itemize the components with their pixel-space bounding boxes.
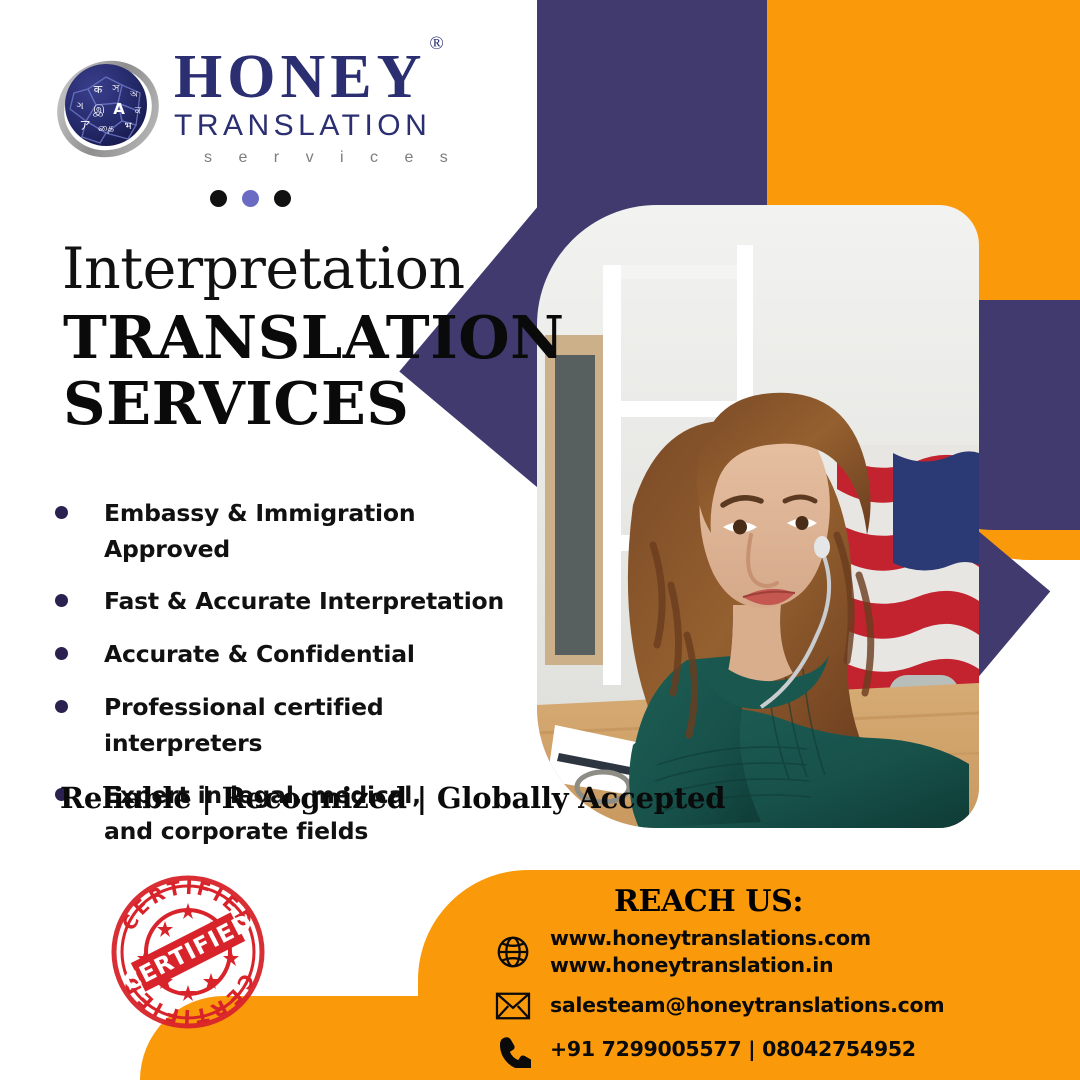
email-text: salesteam@honeytranslations.com [550, 992, 944, 1019]
list-item: Embassy & Immigration Approved [55, 496, 525, 567]
logo-dots [210, 190, 291, 207]
logo-wordmark: HONEY® TRANSLATION s e r v i c e s [174, 48, 459, 167]
list-item: Fast & Accurate Interpretation [55, 584, 525, 620]
logo-line2: TRANSLATION [174, 109, 459, 143]
interpreter-photo [537, 205, 979, 828]
bullet-icon [55, 700, 68, 713]
website-text: www.honeytranslations.com www.honeytrans… [550, 925, 871, 980]
bullet-icon [55, 647, 68, 660]
svg-text:भ: भ [124, 121, 132, 132]
bullet-icon [55, 594, 68, 607]
bullet-icon [55, 506, 68, 519]
globe-icon [492, 933, 534, 971]
contact-row-phone[interactable]: +91 7299005577 | 08042754952 [492, 1032, 1052, 1068]
photo-illustration [537, 205, 979, 828]
logo-line3: s e r v i c e s [174, 149, 459, 167]
certified-stamp-icon: CERTIFIED CERTIFIED CERTIFIED [108, 872, 268, 1032]
headline-bold: TRANSLATION SERVICES [63, 305, 565, 437]
dot-3 [274, 190, 291, 207]
svg-text:क: क [94, 83, 103, 96]
headline-line1: TRANSLATION [63, 305, 565, 371]
svg-text:ગ: ગ [76, 101, 83, 112]
registered-mark-icon: ® [429, 33, 448, 54]
phone-icon [492, 1032, 534, 1068]
contact-row-email[interactable]: salesteam@honeytranslations.com [492, 990, 1052, 1022]
svg-text:অ: অ [129, 90, 138, 100]
svg-text:A: A [113, 100, 125, 118]
list-item: Professional certified interpreters [55, 690, 525, 761]
svg-text:இ: இ [93, 102, 105, 117]
envelope-icon [492, 990, 534, 1022]
website-line2: www.honeytranslation.in [550, 952, 871, 979]
poster-canvas: क স অ ગ இ A ਕ ア தை भ HONEY® TRANSLATION … [0, 0, 1080, 1080]
globe-icon: क স অ ગ இ A ਕ ア தை भ [52, 51, 164, 163]
list-item-label: Embassy & Immigration Approved [104, 496, 525, 567]
logo-name: HONEY [174, 43, 426, 111]
tagline: Reliable | Recognized | Globally Accepte… [60, 781, 725, 815]
dot-2 [242, 190, 259, 207]
svg-text:স: স [111, 82, 120, 95]
website-line1: www.honeytranslations.com [550, 925, 871, 952]
headline-line2: SERVICES [63, 371, 565, 437]
contact-row-website[interactable]: www.honeytranslations.com www.honeytrans… [492, 925, 1052, 980]
headline-script: Interpretation [62, 236, 465, 302]
contact-list: www.honeytranslations.com www.honeytrans… [492, 925, 1052, 1076]
reach-us-title: REACH US: [614, 884, 803, 919]
list-item: Accurate & Confidential [55, 637, 525, 673]
svg-text:ਕ: ਕ [134, 106, 142, 116]
brand-logo[interactable]: क স অ ગ இ A ਕ ア தை भ HONEY® TRANSLATION … [52, 48, 459, 167]
svg-text:ア: ア [80, 119, 91, 132]
list-item-label: Professional certified interpreters [104, 690, 525, 761]
list-item-label: Fast & Accurate Interpretation [104, 584, 504, 620]
list-item-label: Accurate & Confidential [104, 637, 415, 673]
dot-1 [210, 190, 227, 207]
svg-text:தை: தை [98, 123, 114, 134]
phone-text: +91 7299005577 | 08042754952 [550, 1036, 916, 1063]
